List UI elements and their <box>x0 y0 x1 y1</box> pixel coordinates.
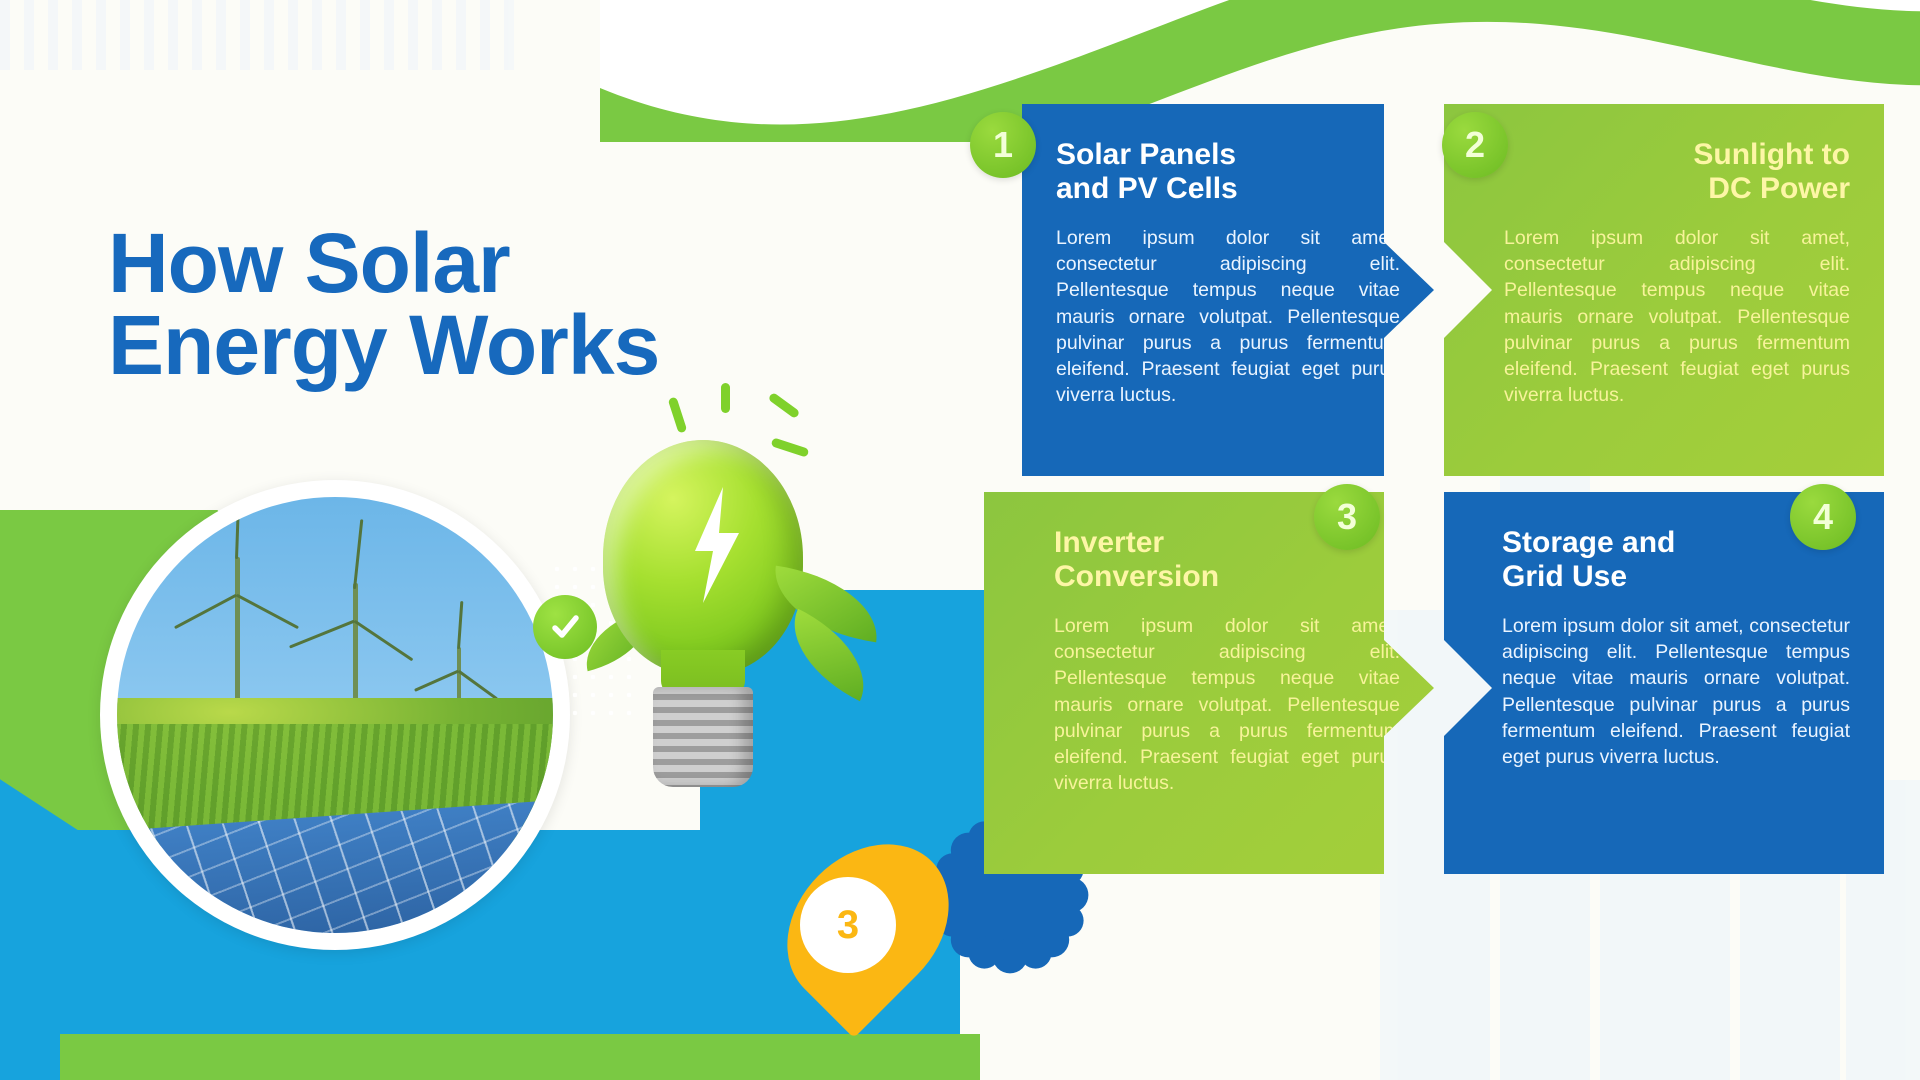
step-card-1-title-line1: Solar Panels <box>1056 138 1236 171</box>
lightning-bolt-icon <box>687 485 747 605</box>
circular-photo-frame <box>100 480 570 950</box>
step-card-3-title-line2: Conversion <box>1054 560 1219 593</box>
step-card-3[interactable]: Inverter Conversion Lorem ipsum dolor si… <box>984 492 1434 874</box>
pin-number: 3 <box>837 905 859 945</box>
step-card-1[interactable]: Solar Panels and PV Cells Lorem ipsum do… <box>1022 104 1434 476</box>
spark-icon <box>721 383 730 413</box>
map-pin-marker: 3 <box>778 855 958 995</box>
check-icon <box>548 610 582 644</box>
step-card-4-body: Lorem ipsum dolor sit amet, consectetur … <box>1502 613 1850 770</box>
step-badge-2[interactable]: 2 <box>1442 112 1508 178</box>
step-card-2-title: Sunlight to DC Power <box>1504 138 1850 205</box>
spark-icon <box>668 396 688 433</box>
green-footer-bar <box>60 1034 980 1080</box>
title-line-2: Energy Works <box>108 298 659 392</box>
step-card-4-title-line1: Storage and <box>1502 526 1675 559</box>
title-line-1: How Solar <box>108 216 510 310</box>
step-badge-4[interactable]: 4 <box>1790 484 1856 550</box>
bulb-screw-base <box>653 687 753 787</box>
renewable-energy-photo <box>117 497 553 933</box>
step-badge-1[interactable]: 1 <box>970 112 1036 178</box>
step-card-1-title: Solar Panels and PV Cells <box>1056 138 1400 205</box>
infographic-canvas: 3 How Solar Energy Works Solar Panels an… <box>0 0 1920 1080</box>
spark-icon <box>768 392 801 419</box>
step-card-3-title-line1: Inverter <box>1054 526 1164 559</box>
step-card-1-title-line2: and PV Cells <box>1056 172 1238 205</box>
check-badge <box>533 595 597 659</box>
page-title: How Solar Energy Works <box>108 222 848 387</box>
step-card-3-body: Lorem ipsum dolor sit amet, consectetur … <box>1054 613 1400 796</box>
step-card-4-title-line2: Grid Use <box>1502 560 1627 593</box>
pin-center: 3 <box>800 877 896 973</box>
step-card-2[interactable]: Sunlight to DC Power Lorem ipsum dolor s… <box>1444 104 1884 476</box>
step-card-1-body: Lorem ipsum dolor sit amet, consectetur … <box>1056 225 1400 408</box>
step-card-2-title-line1: Sunlight to <box>1693 138 1850 171</box>
light-bulb-illustration <box>575 405 895 875</box>
steps-container: Solar Panels and PV Cells Lorem ipsum do… <box>1022 104 1884 874</box>
step-badge-3[interactable]: 3 <box>1314 484 1380 550</box>
spark-icon <box>771 437 810 457</box>
step-card-2-title-line2: DC Power <box>1708 172 1850 205</box>
background-bars-watermark <box>0 0 660 70</box>
step-card-2-body: Lorem ipsum dolor sit amet, consectetur … <box>1504 225 1850 408</box>
